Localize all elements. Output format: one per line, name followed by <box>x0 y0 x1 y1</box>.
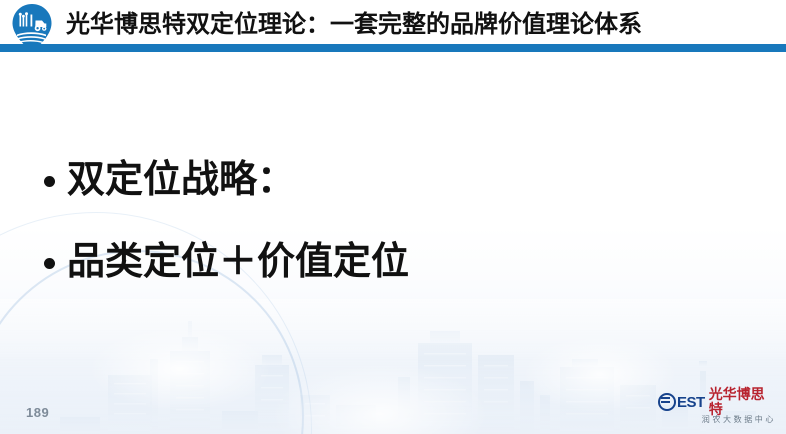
slide-body: 双定位战略： 品类定位＋价值定位 <box>0 150 786 294</box>
bullet-spacer <box>0 212 786 232</box>
bullet-item-1-label: 双定位战略： <box>67 160 295 202</box>
slide-header: 光华博思特双定位理论：一套完整的品牌价值理论体系 <box>0 0 786 52</box>
brand-logo: EST 光华博思特 润农大数据中心 <box>658 392 778 426</box>
bullet-item-1: 双定位战略： <box>0 150 786 212</box>
best-circle-b-icon <box>658 393 676 411</box>
page-title: 光华博思特双定位理论：一套完整的品牌价值理论体系 <box>66 9 778 41</box>
brand-cn-label: 光华博思特 <box>709 387 778 417</box>
page-number: 189 <box>26 405 49 420</box>
bullet-dot-icon <box>44 258 55 269</box>
bullet-item-2-label: 品类定位＋价值定位 <box>67 242 409 284</box>
brand-logo-row: EST 光华博思特 <box>658 392 778 412</box>
title-underline-bar <box>0 44 786 52</box>
bullet-item-2: 品类定位＋价值定位 <box>0 232 786 294</box>
bullet-dot-icon <box>44 176 55 187</box>
brand-subtitle-label: 润农大数据中心 <box>658 414 778 425</box>
brand-latin-label: EST <box>677 395 705 410</box>
slide-canvas: 光华博思特双定位理论：一套完整的品牌价值理论体系 双定位战略： 品类定位＋价值定… <box>0 0 786 434</box>
